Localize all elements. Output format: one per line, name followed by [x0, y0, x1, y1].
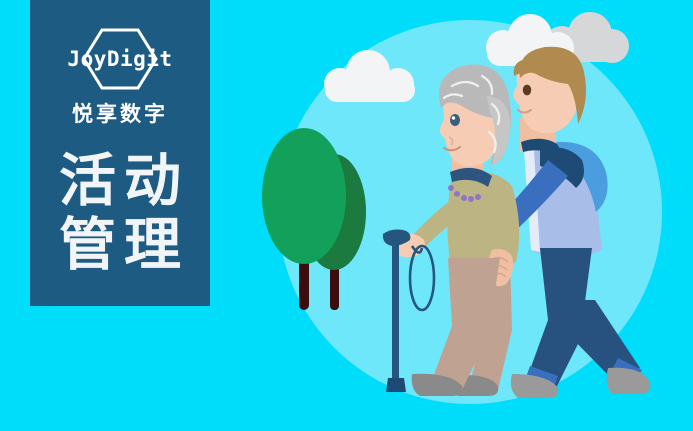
page-title-line-2: 管理: [51, 214, 189, 278]
elderly-eye: [450, 114, 460, 126]
cane-tip: [386, 378, 406, 392]
brand-title-panel: JoyDigit 悦享数字 活动 管理: [30, 0, 210, 306]
young-man-eye: [523, 85, 531, 96]
brand-name-chinese: 悦享数字: [72, 98, 168, 128]
elderly-eye-highlight: [452, 116, 455, 119]
brand-wordmark: JoyDigit: [67, 49, 172, 70]
page-title-line-1: 活动: [51, 150, 189, 214]
brand-logo: JoyDigit: [50, 28, 190, 90]
page-title: 活动 管理: [51, 150, 189, 278]
poster-canvas: JoyDigit 悦享数字 活动 管理: [0, 0, 693, 431]
